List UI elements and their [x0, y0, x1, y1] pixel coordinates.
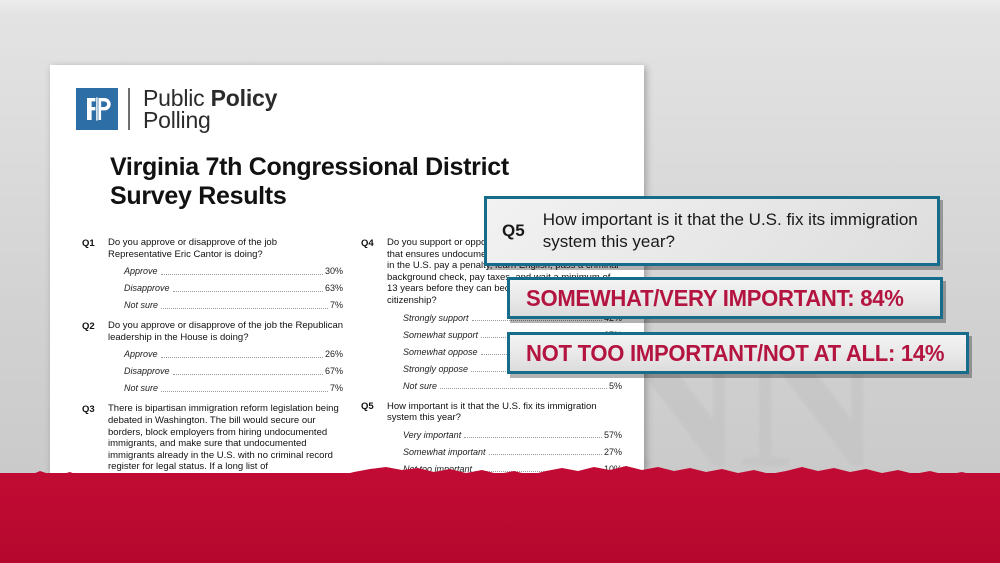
answer-value: 63%	[325, 283, 343, 294]
logo-wordmark: Public Policy Polling	[139, 87, 277, 131]
leader-dots	[173, 290, 323, 292]
overlay-result-banner-negative: NOT TOO IMPORTANT/NOT AT ALL: 14%	[507, 332, 969, 374]
answer-value: 67%	[325, 366, 343, 377]
background-top-band	[0, 0, 1000, 16]
pp-monogram-icon	[76, 88, 118, 130]
answer-label: Strongly oppose	[403, 364, 468, 375]
broadcast-screen: PP NN Public Policy Polling	[0, 0, 1000, 563]
answer-label: Disapprove	[124, 366, 170, 377]
leader-dots	[440, 387, 607, 389]
answer-value: 27%	[604, 447, 622, 458]
question-q1: Q1 Do you approve or disapprove of the j…	[82, 237, 343, 260]
answer-label: Somewhat support	[403, 330, 478, 341]
answer-value: 30%	[325, 266, 343, 277]
leader-dots	[489, 453, 602, 455]
leader-dots	[464, 436, 602, 438]
answer-label: Not sure	[403, 381, 437, 392]
answer-row: Disapprove 67%	[124, 366, 343, 377]
answer-row: Disapprove 63%	[124, 283, 343, 294]
answer-row: Approve 26%	[124, 349, 343, 360]
logo-line2: Polling	[143, 109, 277, 131]
answer-label: Approve	[124, 349, 158, 360]
leader-dots	[161, 356, 323, 358]
lower-third-red-band	[0, 473, 1000, 563]
answer-label: Disapprove	[124, 283, 170, 294]
overlay-question-callout: Q5 How important is it that the U.S. fix…	[484, 196, 940, 266]
answer-value: 5%	[609, 381, 622, 392]
answers-q2: Approve 26% Disapprove 67% Not sure	[124, 349, 343, 394]
answer-label: Somewhat important	[403, 447, 486, 458]
pollster-logo: Public Policy Polling	[76, 87, 622, 131]
answer-value: 7%	[330, 300, 343, 311]
answers-q1: Approve 30% Disapprove 63% Not sure	[124, 266, 343, 311]
answer-row: Very important 57%	[403, 430, 622, 441]
overlay-result-banner-positive: SOMEWHAT/VERY IMPORTANT: 84%	[507, 277, 943, 319]
question-number: Q2	[82, 320, 102, 343]
question-number: Q4	[361, 237, 381, 307]
answer-value: 7%	[330, 383, 343, 394]
overlay-result-banner-positive-text: SOMEWHAT/VERY IMPORTANT: 84%	[526, 285, 904, 312]
question-q2: Q2 Do you approve or disapprove of the j…	[82, 320, 343, 343]
logo-line1-bold: Policy	[211, 85, 278, 111]
answer-value: 57%	[604, 430, 622, 441]
answer-row: Not sure 7%	[124, 383, 343, 394]
answer-label: Not sure	[124, 300, 158, 311]
answer-label: Strongly support	[403, 313, 469, 324]
leader-dots	[161, 273, 323, 275]
overlay-question-number: Q5	[502, 221, 525, 241]
overlay-result-banner-negative-text: NOT TOO IMPORTANT/NOT AT ALL: 14%	[526, 340, 944, 367]
question-number: Q5	[361, 401, 381, 424]
leader-dots	[472, 319, 602, 321]
answer-value: 26%	[325, 349, 343, 360]
question-text: How important is it that the U.S. fix it…	[387, 401, 622, 424]
page-title-line1: Virginia 7th Congressional District	[110, 153, 622, 182]
answer-label: Somewhat oppose	[403, 347, 478, 358]
logo-divider	[128, 88, 130, 130]
overlay-question-text: How important is it that the U.S. fix it…	[543, 209, 937, 253]
answer-label: Approve	[124, 266, 158, 277]
question-text: Do you approve or disapprove of the job …	[108, 320, 343, 343]
answer-row: Somewhat important 27%	[403, 447, 622, 458]
answer-row: Not sure 5%	[403, 381, 622, 392]
answer-row: Approve 30%	[124, 266, 343, 277]
answer-label: Not sure	[124, 383, 158, 394]
leader-dots	[161, 390, 328, 392]
question-q5: Q5 How important is it that the U.S. fix…	[361, 401, 622, 424]
answer-row: Not sure 7%	[124, 300, 343, 311]
leader-dots	[161, 307, 328, 309]
leader-dots	[173, 373, 323, 375]
answer-label: Very important	[403, 430, 461, 441]
question-text: Do you approve or disapprove of the job …	[108, 237, 343, 260]
survey-column-left: Q1 Do you approve or disapprove of the j…	[82, 237, 343, 484]
question-number: Q1	[82, 237, 102, 260]
